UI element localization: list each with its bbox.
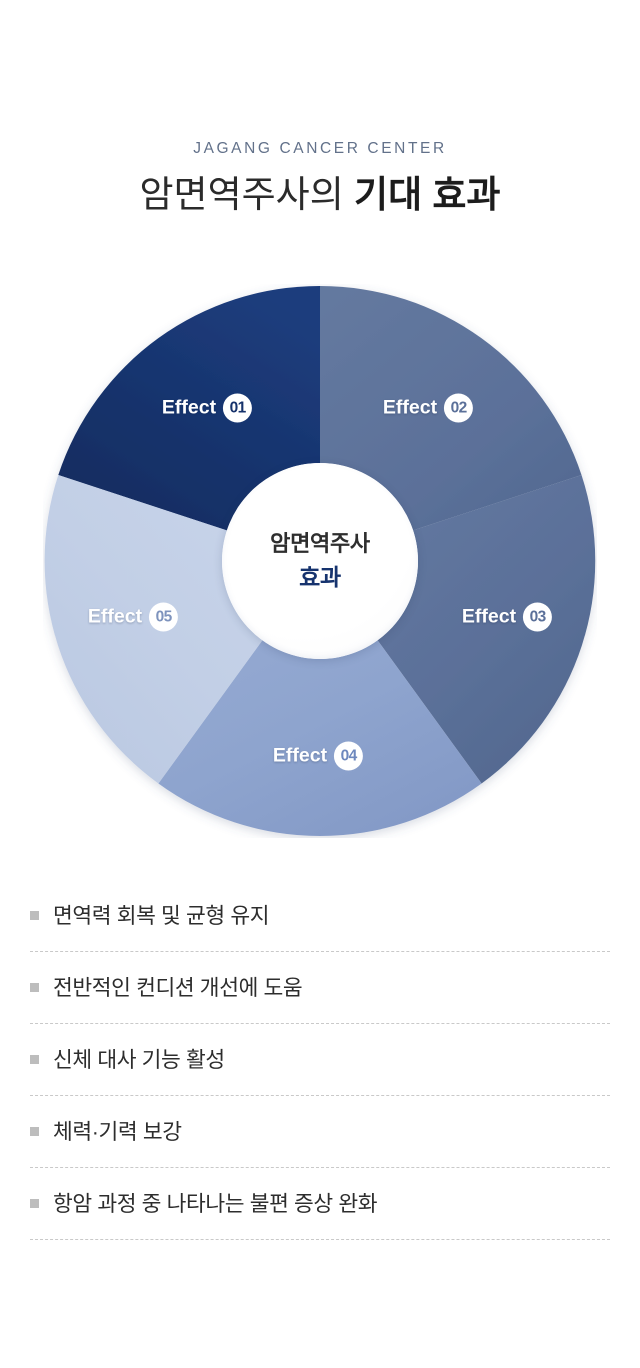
donut-label-effect-01[interactable]: Effect 01 [162,394,252,423]
list-item-label: 전반적인 컨디션 개선에 도움 [53,973,302,1003]
list-item-label: 항암 과정 중 나타나는 불편 증상 완화 [53,1189,377,1219]
list-item-label: 면역력 회복 및 균형 유지 [53,901,269,931]
hub-label-primary: 암면역주사 [270,529,370,559]
donut-badge-effect-01: 01 [223,394,252,423]
list-item: 항암 과정 중 나타나는 불편 증상 완화 [30,1168,610,1240]
page-title: 암면역주사의 기대 효과 [0,170,640,220]
page-title-bold: 기대 효과 [354,174,500,215]
donut-label-effect-04-text: Effect [273,745,327,768]
donut-badge-effect-03: 03 [523,603,552,632]
page-header: JAGANG CANCER CENTER 암면역주사의 기대 효과 [0,138,640,220]
donut-badge-effect-05: 05 [149,603,178,632]
donut-label-effect-01-text: Effect [162,397,216,420]
donut-label-effect-05[interactable]: Effect 05 [88,603,178,632]
donut-label-effect-03[interactable]: Effect 03 [462,603,552,632]
donut-badge-effect-02: 02 [444,394,473,423]
hub-label-secondary: 효과 [299,561,341,593]
list-item: 신체 대사 기능 활성 [30,1024,610,1096]
square-bullet-icon [30,1199,39,1208]
brand-eyebrow: JAGANG CANCER CENTER [0,138,640,160]
donut-label-effect-05-text: Effect [88,606,142,629]
donut-label-effect-02-text: Effect [383,397,437,420]
list-item: 체력·기력 보강 [30,1096,610,1168]
effects-donut-chart: 암면역주사 효과 Effect 01 Effect 02 Effect 03 E… [43,284,597,838]
list-item-label: 신체 대사 기능 활성 [53,1045,225,1075]
donut-label-effect-03-text: Effect [462,606,516,629]
list-item-label: 체력·기력 보강 [53,1117,182,1147]
donut-label-effect-04[interactable]: Effect 04 [273,742,363,771]
square-bullet-icon [30,983,39,992]
square-bullet-icon [30,911,39,920]
square-bullet-icon [30,1055,39,1064]
list-item: 전반적인 컨디션 개선에 도움 [30,952,610,1024]
effects-list: 면역력 회복 및 균형 유지 전반적인 컨디션 개선에 도움 신체 대사 기능 … [30,880,610,1240]
page-title-normal: 암면역주사의 [140,174,355,215]
donut-label-effect-02[interactable]: Effect 02 [383,394,473,423]
donut-badge-effect-04: 04 [334,742,363,771]
square-bullet-icon [30,1127,39,1136]
infographic-page: JAGANG CANCER CENTER 암면역주사의 기대 효과 [0,0,640,1368]
list-item: 면역력 회복 및 균형 유지 [30,880,610,952]
donut-center-hub: 암면역주사 효과 [222,463,418,659]
